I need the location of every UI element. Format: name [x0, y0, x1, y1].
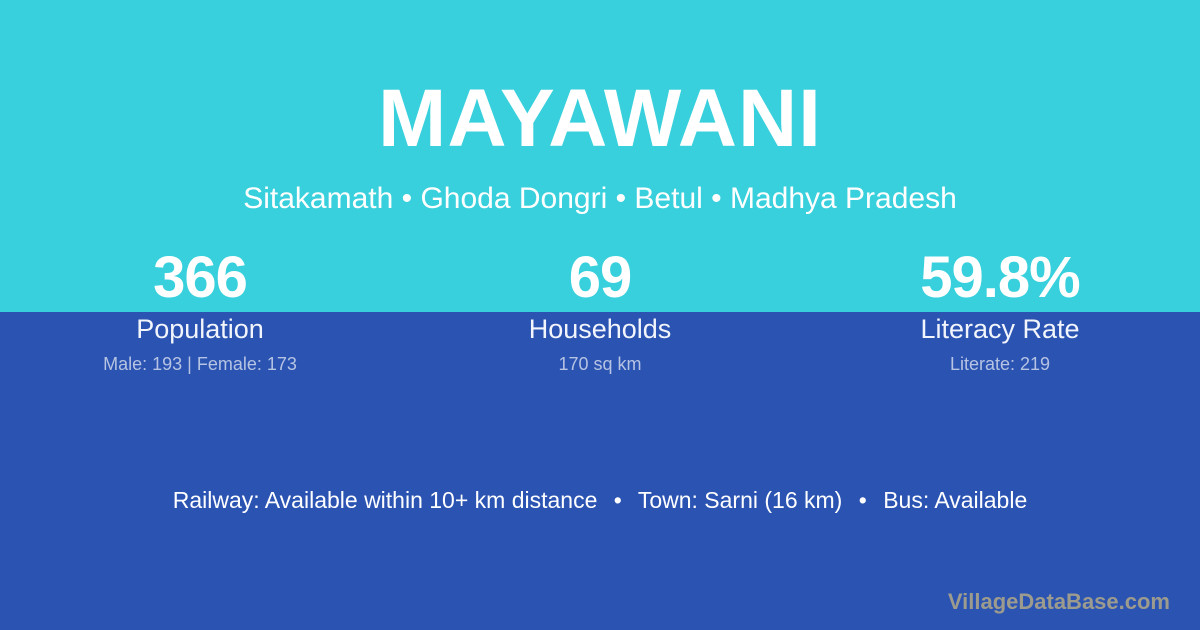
amenity-separator-1: • [604, 483, 632, 517]
amenity-bus: Bus: Available [883, 487, 1027, 513]
stat-sub-literacy-rate: Literate: 219 [800, 352, 1200, 376]
stat-value-literacy-rate: 59.8% [800, 243, 1200, 312]
stats-row: 366 Population Male: 193 | Female: 173 6… [0, 243, 1200, 376]
stat-sub-population: Male: 193 | Female: 173 [0, 352, 400, 376]
stat-label-households: Households [400, 312, 800, 346]
stat-population: 366 Population Male: 193 | Female: 173 [0, 243, 400, 376]
stat-label-population: Population [0, 312, 400, 346]
amenity-separator-2: • [849, 483, 877, 517]
stat-value-households: 69 [400, 243, 800, 312]
amenity-town: Town: Sarni (16 km) [638, 487, 843, 513]
stat-value-population: 366 [0, 243, 400, 312]
breadcrumb: Sitakamath • Ghoda Dongri • Betul • Madh… [0, 180, 1200, 218]
village-info-card: MAYAWANI Sitakamath • Ghoda Dongri • Bet… [0, 0, 1200, 630]
amenities-line: Railway: Available within 10+ km distanc… [0, 483, 1200, 517]
stat-literacy-rate: 59.8% Literacy Rate Literate: 219 [800, 243, 1200, 376]
stat-sub-households: 170 sq km [400, 352, 800, 376]
amenity-railway: Railway: Available within 10+ km distanc… [173, 487, 598, 513]
stat-label-literacy-rate: Literacy Rate [800, 312, 1200, 346]
site-brand: VillageDataBase.com [948, 588, 1170, 616]
stat-households: 69 Households 170 sq km [400, 243, 800, 376]
page-title: MAYAWANI [0, 78, 1200, 160]
